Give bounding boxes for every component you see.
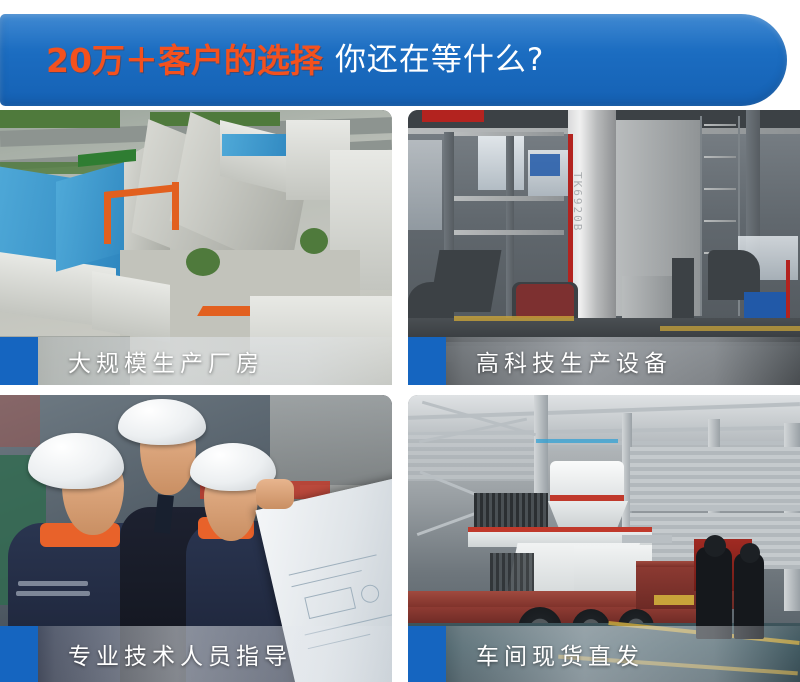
caption-accent-block [408, 337, 446, 385]
gallery-item-high-tech-equipment[interactable]: TK6920B [408, 110, 800, 385]
header-banner: 20万＋客户的选择 你还在等什么? [0, 14, 787, 106]
gallery-item-large-scale-factory[interactable]: 大规模生产厂房 [0, 110, 392, 385]
photo-aerial-factory: 大规模生产厂房 [0, 110, 392, 385]
machine-model-label: TK6920B [571, 172, 584, 232]
headline-accent-text: 20万＋客户的选择 [46, 44, 323, 77]
caption-large-scale-factory: 大规模生产厂房 [68, 337, 264, 385]
photo-crusher-on-trailer: 车间现货直发 [408, 395, 800, 682]
gallery-item-in-stock-shipping[interactable]: 车间现货直发 [408, 395, 800, 682]
caption-technical-guidance: 专业技术人员指导 [68, 626, 292, 682]
headline-main-text: 你还在等什么? [335, 45, 544, 76]
gallery-item-technical-guidance[interactable]: 专业技术人员指导 [0, 395, 392, 682]
promo-page: 20万＋客户的选择 你还在等什么? [0, 0, 800, 682]
banner-headline: 20万＋客户的选择 你还在等什么? [46, 14, 544, 106]
caption-high-tech-equipment: 高科技生产设备 [476, 337, 672, 385]
photo-engineers-blueprint: 专业技术人员指导 [0, 395, 392, 682]
photo-boring-machine: TK6920B [408, 110, 800, 385]
caption-accent-block [0, 626, 38, 682]
caption-accent-block [408, 626, 446, 682]
uniform-logo [0, 395, 3, 406]
photo-grid: 大规模生产厂房 TK6920B [0, 110, 800, 682]
caption-accent-block [0, 337, 38, 385]
caption-in-stock-shipping: 车间现货直发 [476, 626, 644, 682]
